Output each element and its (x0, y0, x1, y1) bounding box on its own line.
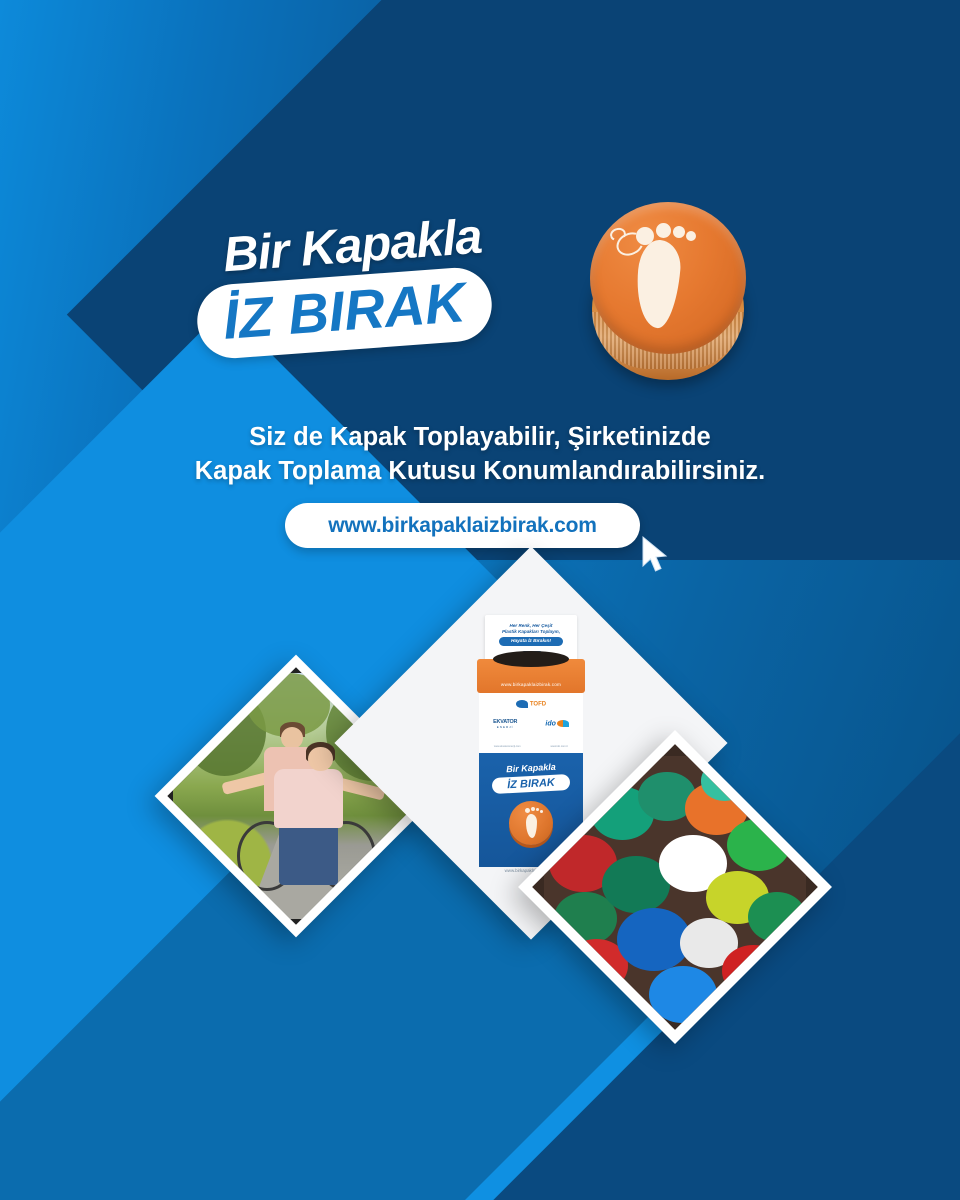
mouse-pointer-icon (640, 535, 672, 575)
sponsor-tofd-label: TOFD (530, 702, 546, 708)
box-front-line1: Bir Kapakla (479, 760, 583, 775)
collection-box-lid-url: www.birkapaklaizbirak.com (477, 682, 585, 687)
box-top-pill-label: Hayata İz Bırakın! (511, 639, 551, 644)
sponsor-ido: ido (545, 720, 569, 727)
brand-line2: İZ BIRAK (221, 274, 467, 348)
ido-wave-icon (557, 720, 569, 727)
bottle-cap-footprint-icon (590, 202, 748, 387)
headline: Siz de Kapak Toplayabilir, Şirketinizde … (0, 420, 960, 488)
collection-box-top-text: Her Renk, Her Çeşit Plastik Kapakları To… (485, 623, 577, 635)
headline-line2: Kapak Toplama Kutusu Konumlandırabilirsi… (0, 454, 960, 488)
sponsor-ido-url: www.ido.com.tr (550, 745, 568, 748)
website-url-label: www.birkapaklaizbirak.com (328, 514, 597, 538)
box-top-pill: Hayata İz Bırakın! (499, 637, 563, 646)
headline-line1: Siz de Kapak Toplayabilir, Şirketinizde (0, 420, 960, 454)
box-front-pill: İZ BIRAK (492, 774, 571, 794)
brand-logo: Bir Kapakla İZ BIRAK (205, 198, 765, 398)
sponsor-ekvator: EKVATOR ENERJİ (493, 719, 517, 729)
box-front-line2: İZ BIRAK (507, 777, 555, 791)
sponsor-ekvator-url: www.ekvatorenerji.com (494, 745, 521, 748)
collection-box-sponsor-panel: TOFD EKVATOR ENERJİ ido www.ekvatorenerj… (479, 693, 583, 753)
sponsor-urls: www.ekvatorenerji.com www.ido.com.tr (479, 745, 583, 748)
tofd-wheelchair-icon (516, 700, 528, 708)
sponsor-ido-label: ido (545, 721, 556, 728)
website-url-button[interactable]: www.birkapaklaizbirak.com (285, 503, 640, 548)
poster-canvas: Bir Kapakla İZ BIRAK Siz de Kapak Toplay… (0, 0, 960, 1200)
box-top-badge-icon (523, 651, 541, 659)
sponsor-ekvator-sub: ENERJİ (493, 725, 517, 729)
sponsor-row: EKVATOR ENERJİ ido (479, 719, 583, 729)
collection-box-lid: www.birkapaklaizbirak.com (477, 659, 585, 693)
sponsor-tofd: TOFD (479, 700, 583, 708)
box-front-cap-icon (509, 801, 553, 845)
collection-box-top-panel: Her Renk, Her Çeşit Plastik Kapakları To… (485, 615, 577, 663)
box-top-line2: Plastik Kapakları Toplayın, (485, 629, 577, 635)
